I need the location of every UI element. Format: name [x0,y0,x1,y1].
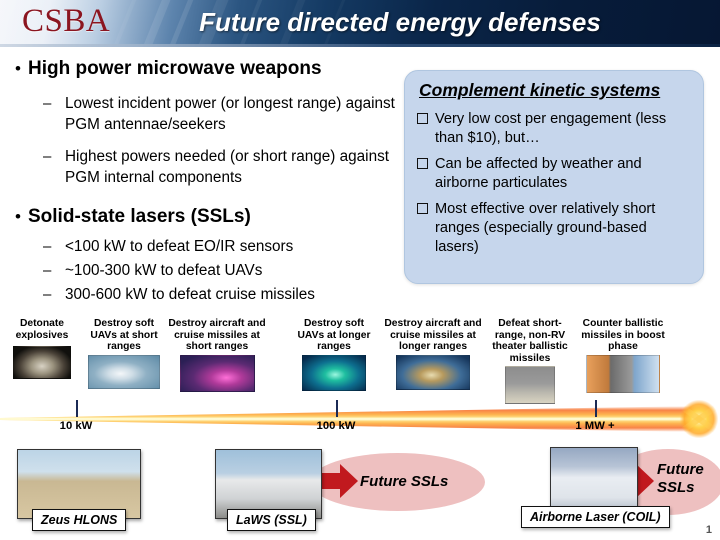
effect-caption: Destroy soft UAVs at longer ranges [292,318,376,353]
effect-caption: Defeat short-range, non-RV theater balli… [484,318,576,364]
effect-caption: Counter ballistic missiles in boost phas… [578,318,668,353]
slide: CSBA Future directed energy defenses • H… [0,0,720,540]
page-title: Future directed energy defenses [0,7,720,37]
effect-item-1: Destroy soft UAVs at short ranges [82,318,166,389]
sub-bullet-item: – <100 kW to defeat EO/IR sensors [8,236,400,258]
red-arrow-head [340,464,358,498]
effect-item-6: Counter ballistic missiles in boost phas… [578,318,668,393]
effect-caption: Destroy aircraft and cruise missiles at … [384,318,482,353]
sub-bullet-item: – Highest powers needed (or short range)… [8,146,400,188]
callout-title: Complement kinetic systems [419,80,691,101]
scale-tick-label: 100 kW [317,420,356,432]
scale-tick-label: 10 kW [60,420,93,432]
dash-icon: – [43,284,65,306]
system-label-zeus: Zeus HLONS [32,509,126,531]
scale-tick [76,400,78,417]
callout-item: Can be affected by weather and airborne … [417,155,691,193]
system-label-laws: LaWS (SSL) [227,509,316,531]
humvee-hpm-photo [13,346,71,379]
effect-caption: Detonate explosives [6,318,78,341]
sub-bullet-text: Highest powers needed (or short range) a… [65,146,400,188]
checkbox-square-icon [417,200,435,214]
callout-item: Very low cost per engagement (less than … [417,110,691,148]
scale-tick-label: 1 MW + [575,420,614,432]
effect-item-5: Defeat short-range, non-RV theater balli… [484,318,576,404]
effect-item-2: Destroy aircraft and cruise missiles at … [168,318,266,392]
dash-icon: – [43,260,65,282]
effect-caption: Destroy aircraft and cruise missiles at … [168,318,266,353]
slide-header: CSBA Future directed energy defenses [0,0,720,47]
dash-icon: – [43,236,65,258]
dash-icon: – [43,93,65,115]
effect-item-4: Destroy aircraft and cruise missiles at … [384,318,482,390]
bullet-text: High power microwave weapons [28,56,322,81]
sub-bullet-item: – Lowest incident power (or longest rang… [8,93,400,135]
future-ssl-label-1: Future SSLs [360,473,448,491]
future-ssl-label-2: Future SSLs [657,461,715,497]
callout-item: Most effective over relatively short ran… [417,200,691,257]
white-uav-photo [88,355,160,389]
system-label-abl: Airborne Laser (COIL) [521,506,670,528]
systems-row: Zeus HLONS Future SSLs LaWS (SSL) Future… [0,440,720,540]
effect-item-3: Destroy soft UAVs at longer ranges [292,318,376,391]
airborne-laser-747-photo [550,447,638,515]
page-number: 1 [706,524,712,536]
sub-bullet-item: – ~100-300 kW to defeat UAVs [8,260,400,282]
bullet-text: Solid-state lasers (SSLs) [28,204,251,229]
red-arrow-head [636,464,654,498]
effect-caption: Destroy soft UAVs at short ranges [82,318,166,353]
dash-icon: – [43,146,65,168]
sub-bullet-text: Lowest incident power (or longest range)… [65,93,400,135]
callout-box: Complement kinetic systems Very low cost… [404,70,704,284]
header-divider [0,44,720,47]
helicopter-laser-photo [180,355,255,392]
callout-item-text: Very low cost per engagement (less than … [435,110,691,148]
sub-bullet-text: 300-600 kW to defeat cruise missiles [65,284,315,305]
cruise-missile-photo [396,355,470,390]
red-arrow-shaft [322,473,340,489]
checkbox-square-icon [417,110,435,124]
scale-tick [595,400,597,417]
sub-bullet-item: – 300-600 kW to defeat cruise missiles [8,284,400,306]
callout-item-text: Most effective over relatively short ran… [435,200,691,257]
boost-phase-launch-photo [586,355,660,393]
checkbox-square-icon [417,155,435,169]
sub-bullet-text: ~100-300 kW to defeat UAVs [65,260,262,281]
bullet-list: • High power microwave weapons – Lowest … [8,56,400,308]
bullet-item-1: • Solid-state lasers (SSLs) [8,204,400,229]
power-scale-beam: 10 kW 100 kW 1 MW + [0,398,720,442]
green-uav-ir-photo [302,355,366,391]
bullet-dot-icon: • [8,204,28,229]
bullet-item-0: • High power microwave weapons [8,56,400,81]
sub-bullet-text: <100 kW to defeat EO/IR sensors [65,236,293,257]
starburst-icon [680,400,718,438]
bullet-dot-icon: • [8,56,28,81]
scale-tick [336,400,338,417]
effects-row: Detonate explosives Destroy soft UAVs at… [0,316,720,402]
callout-item-text: Can be affected by weather and airborne … [435,155,691,193]
effect-item-0: Detonate explosives [6,318,78,379]
